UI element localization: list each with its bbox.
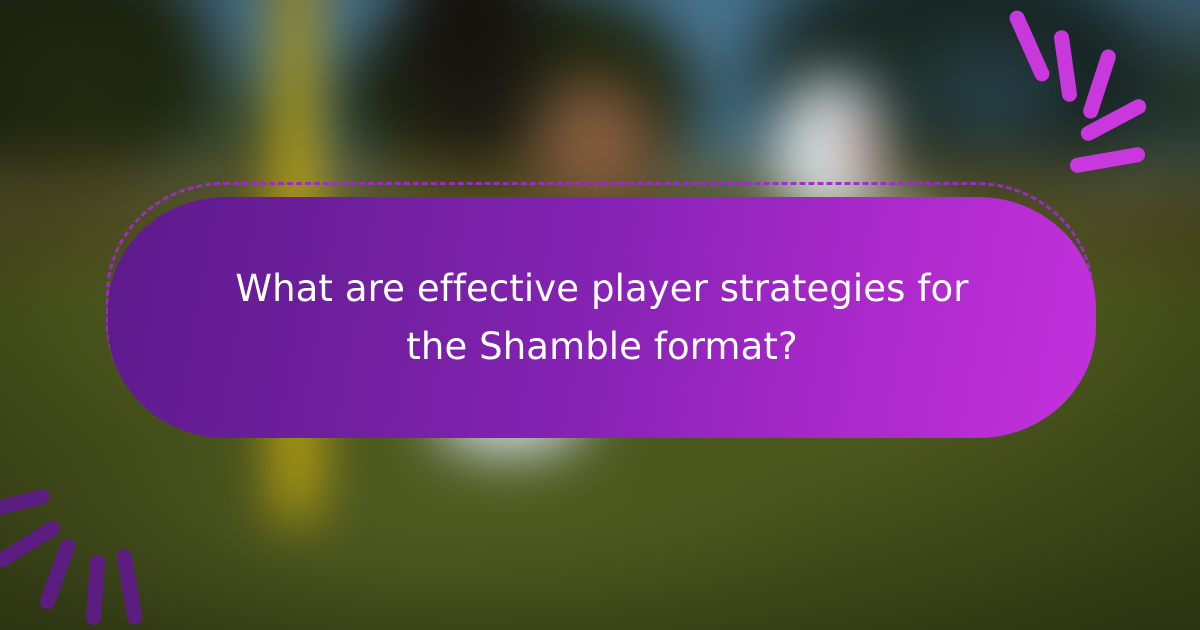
sparkle-ray xyxy=(116,548,144,625)
question-text: What are effective player strategies for… xyxy=(222,260,982,375)
sparkle-ray xyxy=(1081,47,1118,120)
sparkle-ray xyxy=(0,488,51,520)
question-card: What are effective player strategies for… xyxy=(108,197,1096,438)
screenshot-canvas: What are effective player strategies for… xyxy=(0,0,1200,630)
sparkle-ray xyxy=(1053,29,1078,102)
sparkle-burst-top-right xyxy=(1016,4,1186,164)
sparkle-ray xyxy=(38,537,77,612)
sparkle-burst-bottom-left xyxy=(6,459,181,624)
sparkle-ray xyxy=(86,555,106,626)
